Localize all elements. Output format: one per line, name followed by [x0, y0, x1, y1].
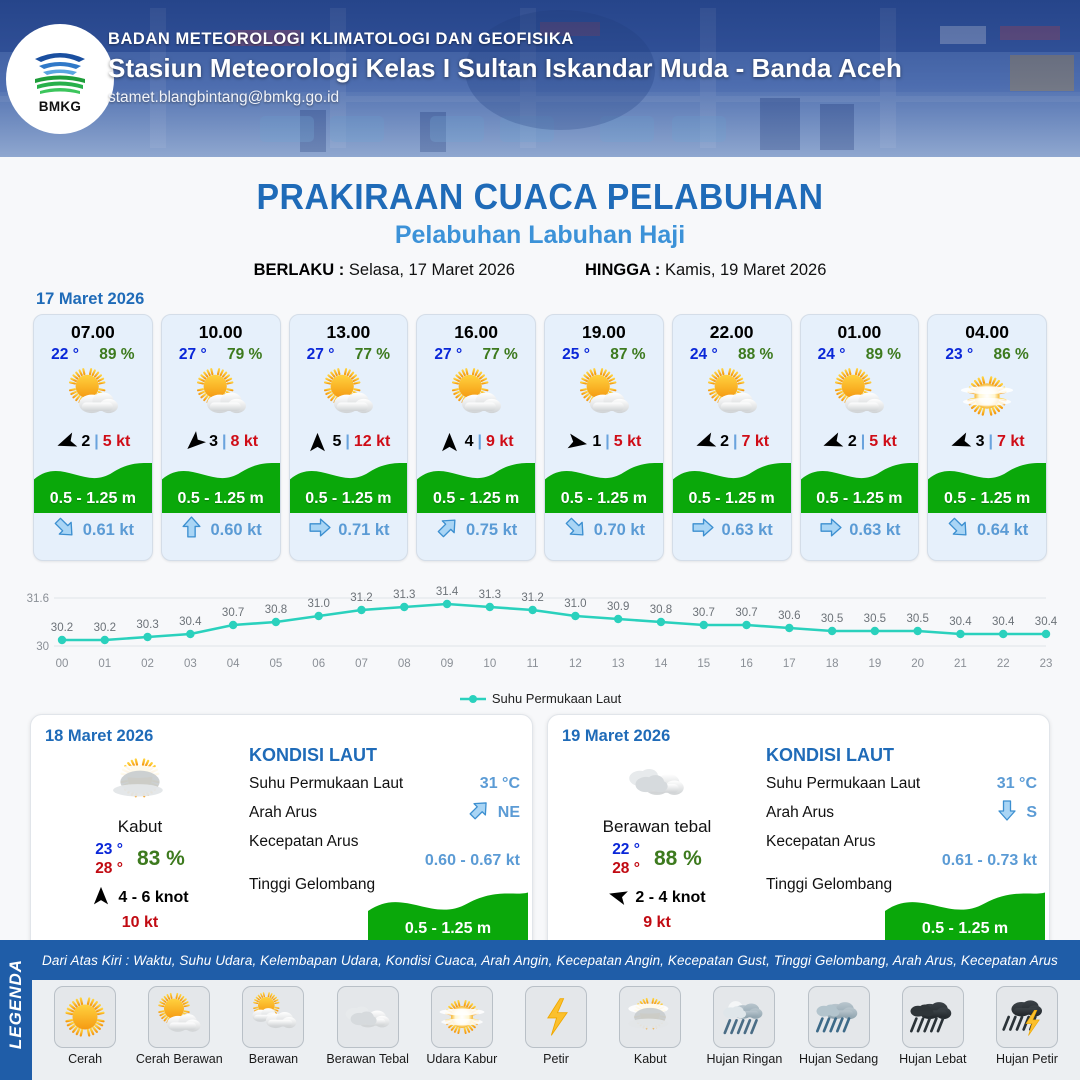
- svg-text:12: 12: [569, 658, 582, 670]
- svg-text:31.2: 31.2: [521, 592, 543, 604]
- wind-direction-icon: [91, 886, 111, 911]
- legend-item-label: Hujan Ringan: [707, 1052, 783, 1066]
- panel-temp-hum: 23 ° 28 ° 83 %: [45, 840, 235, 879]
- card-wave: 0.5 - 1.25 m: [417, 455, 535, 513]
- current-direction-icon: [818, 515, 843, 545]
- card-current-row: 0.64 kt: [928, 513, 1046, 547]
- hujan-ringan-icon: [713, 986, 775, 1048]
- legend-item-label: Hujan Sedang: [799, 1052, 878, 1066]
- cerah-berawan-icon: [162, 365, 280, 427]
- current-direction-value: NE: [498, 804, 520, 822]
- cerah-berawan-icon: [34, 365, 152, 427]
- wind-separator: |: [94, 433, 98, 451]
- wind-separator: |: [733, 433, 737, 451]
- hourly-card[interactable]: 19.00 25 ° 87 % 1 | 5 kt 0.5 - 1: [544, 314, 664, 561]
- legend-side-band: LEGENDA: [0, 940, 32, 1080]
- card-temperature: 24 °: [690, 346, 718, 364]
- legend-item-label: Kabut: [634, 1052, 667, 1066]
- legend-item-label: Cerah Berawan: [136, 1052, 223, 1066]
- svg-text:30.5: 30.5: [906, 613, 928, 625]
- wave-height: 0.5 - 1.25 m: [801, 490, 919, 508]
- svg-text:30.8: 30.8: [265, 604, 287, 616]
- card-temp-humidity: 25 ° 87 %: [545, 343, 663, 364]
- legend-item: Kabut: [605, 986, 695, 1080]
- legend-item-label: Udara Kabur: [426, 1052, 497, 1066]
- wind-direction-icon: [694, 431, 716, 453]
- current-direction-value-wrap: S: [995, 798, 1037, 827]
- valid-from-label: BERLAKU :: [254, 261, 345, 279]
- card-wave: 0.5 - 1.25 m: [545, 455, 663, 513]
- legend-item: Cerah: [40, 986, 130, 1080]
- svg-text:30.4: 30.4: [1035, 616, 1058, 628]
- svg-text:31.0: 31.0: [308, 598, 330, 610]
- station-email: stamet.blangbintang@bmkg.go.id: [108, 89, 902, 107]
- sea-condition-heading: KONDISI LAUT: [249, 745, 520, 766]
- hourly-card[interactable]: 04.00 23 ° 86 % 3 | 7 kt 0.5 - 1.25 m: [927, 314, 1047, 561]
- legend-item-label: Cerah: [68, 1052, 102, 1066]
- hujan-petir-icon: [996, 986, 1058, 1048]
- berawan-icon: [242, 986, 304, 1048]
- current-direction-icon: [995, 798, 1019, 827]
- card-humidity: 79 %: [227, 346, 262, 364]
- wind-direction-icon: [566, 431, 588, 453]
- card-time: 22.00: [673, 315, 791, 343]
- svg-text:30.8: 30.8: [650, 604, 672, 616]
- svg-text:30.6: 30.6: [778, 610, 800, 622]
- card-wave: 0.5 - 1.25 m: [928, 455, 1046, 513]
- card-wave: 0.5 - 1.25 m: [801, 455, 919, 513]
- valid-from: BERLAKU : Selasa, 17 Maret 2026: [254, 261, 515, 280]
- svg-text:30.4: 30.4: [949, 616, 972, 628]
- header-text-block: BADAN METEOROLOGI KLIMATOLOGI DAN GEOFIS…: [108, 30, 902, 107]
- svg-text:15: 15: [697, 658, 710, 670]
- current-speed-label: Kecepatan Arus: [766, 833, 875, 851]
- hourly-card[interactable]: 16.00 27 ° 77 % 4 | 9 kt 0.5 - 1: [416, 314, 536, 561]
- panel-humidity: 83 %: [137, 847, 185, 871]
- card-temp-humidity: 24 ° 89 %: [801, 343, 919, 364]
- card-humidity: 77 %: [482, 346, 517, 364]
- wind-direction-icon: [608, 886, 628, 911]
- panel-condition: Kabut: [45, 817, 235, 837]
- legend-item-label: Berawan Tebal: [326, 1052, 408, 1066]
- wind-speed: 8 kt: [231, 433, 259, 451]
- current-direction-icon: [563, 515, 588, 545]
- wind-direction-value: 2: [720, 433, 729, 451]
- panel-date: 19 Maret 2026: [562, 727, 1035, 746]
- svg-text:05: 05: [270, 658, 283, 670]
- legend-note-bar: Dari Atas Kiri : Waktu, Suhu Udara, Kele…: [32, 940, 1080, 980]
- cerah-berawan-icon: [545, 365, 663, 427]
- current-speed: 0.63 kt: [849, 521, 900, 540]
- panel-left: Berawan tebal 22 ° 28 ° 88 % 2 - 4 knot …: [562, 751, 752, 932]
- current-direction-icon: [307, 515, 332, 545]
- panel-wave-block: 0.5 - 1.25 m: [368, 885, 528, 947]
- sea-condition-heading: KONDISI LAUT: [766, 745, 1037, 766]
- svg-text:30.7: 30.7: [735, 607, 757, 619]
- hourly-date: 17 Maret 2026: [36, 290, 1080, 309]
- daily-panel[interactable]: 19 Maret 2026 Berawan tebal 22 °: [547, 714, 1050, 954]
- validity-row: BERLAKU : Selasa, 17 Maret 2026 HINGGA :…: [0, 261, 1080, 280]
- daily-panel[interactable]: 18 Maret 2026 Kabut 23 ° 28 ° 83 %: [30, 714, 533, 954]
- svg-text:30.2: 30.2: [94, 622, 116, 634]
- card-humidity: 86 %: [993, 346, 1028, 364]
- card-wave: 0.5 - 1.25 m: [673, 455, 791, 513]
- svg-text:31.4: 31.4: [436, 586, 459, 598]
- panel-temp-max: 28 °: [95, 859, 123, 878]
- panel-gust: 10 kt: [45, 914, 235, 932]
- svg-text:31.6: 31.6: [27, 593, 49, 605]
- card-current-row: 0.75 kt: [417, 513, 535, 547]
- wind-direction-value: 5: [332, 433, 341, 451]
- station-name: Stasiun Meteorologi Kelas I Sultan Iskan…: [108, 53, 902, 84]
- berawan-tebal-icon: [337, 986, 399, 1048]
- cerah-berawan-icon: [290, 365, 408, 427]
- wind-direction-value: 2: [81, 433, 90, 451]
- card-temp-humidity: 22 ° 89 %: [34, 343, 152, 364]
- wave-label: Tinggi Gelombang: [249, 876, 375, 894]
- svg-text:31.0: 31.0: [564, 598, 586, 610]
- wind-direction-value: 1: [592, 433, 601, 451]
- svg-text:21: 21: [954, 658, 967, 670]
- svg-text:14: 14: [655, 658, 668, 670]
- svg-text:04: 04: [227, 658, 240, 670]
- card-wind-row: 1 | 5 kt: [545, 427, 663, 457]
- svg-text:17: 17: [783, 658, 796, 670]
- panel-condition: Berawan tebal: [562, 817, 752, 837]
- panel-gust: 9 kt: [562, 914, 752, 932]
- chart-legend-label: Suhu Permukaan Laut: [492, 691, 621, 706]
- kabut-icon: [45, 751, 235, 813]
- panel-wave-block: 0.5 - 1.25 m: [885, 885, 1045, 947]
- card-wind-row: 2 | 7 kt: [673, 427, 791, 457]
- card-temperature: 23 °: [945, 346, 973, 364]
- panel-temps: 22 ° 28 °: [612, 840, 640, 879]
- wind-speed: 5 kt: [614, 433, 642, 451]
- svg-text:30.7: 30.7: [222, 607, 244, 619]
- wind-direction-icon: [183, 431, 205, 453]
- card-temperature: 27 °: [179, 346, 207, 364]
- udara-kabur-icon: [928, 365, 1046, 427]
- current-direction-value: S: [1026, 804, 1037, 822]
- card-temp-humidity: 27 ° 77 %: [290, 343, 408, 364]
- wind-direction-value: 3: [976, 433, 985, 451]
- card-current-row: 0.63 kt: [673, 513, 791, 547]
- card-time: 13.00: [290, 315, 408, 343]
- current-direction-icon: [467, 798, 491, 827]
- current-direction-icon: [52, 515, 77, 545]
- wind-separator: |: [345, 433, 349, 451]
- card-current-row: 0.60 kt: [162, 513, 280, 547]
- panel-wind-range: 2 - 4 knot: [635, 889, 705, 907]
- hourly-card[interactable]: 01.00 24 ° 89 % 2 | 5 kt 0.5 - 1: [800, 314, 920, 561]
- current-speed-label: Kecepatan Arus: [249, 833, 358, 851]
- svg-text:13: 13: [612, 658, 625, 670]
- current-speed: 0.61 kt: [83, 521, 134, 540]
- card-time: 07.00: [34, 315, 152, 343]
- panel-temp-max: 28 °: [612, 859, 640, 878]
- panel-wind: 2 - 4 knot: [562, 886, 752, 911]
- sst-value: 31 °C: [480, 775, 520, 793]
- svg-text:31.3: 31.3: [393, 589, 415, 601]
- current-direction-label: Arah Arus: [766, 804, 834, 822]
- wave-height: 0.5 - 1.25 m: [417, 490, 535, 508]
- panel-wave-height: 0.5 - 1.25 m: [368, 920, 528, 938]
- legend-item-label: Petir: [543, 1052, 569, 1066]
- hujan-lebat-icon: [902, 986, 964, 1048]
- legend-item: Hujan Ringan: [699, 986, 789, 1080]
- svg-text:20: 20: [911, 658, 924, 670]
- svg-text:10: 10: [483, 658, 496, 670]
- hourly-card[interactable]: 07.00 22 ° 89 % 2 | 5 kt 0.5 - 1: [33, 314, 153, 561]
- berawan-tebal-icon: [562, 751, 752, 813]
- current-direction-icon: [690, 515, 715, 545]
- legend-item-label: Berawan: [249, 1052, 298, 1066]
- card-wind-row: 3 | 8 kt: [162, 427, 280, 457]
- bmkg-logo-text: BMKG: [39, 99, 81, 114]
- panel-temps: 23 ° 28 °: [95, 840, 123, 879]
- wind-direction-value: 2: [848, 433, 857, 451]
- svg-text:01: 01: [98, 658, 111, 670]
- card-temperature: 25 °: [562, 346, 590, 364]
- legend-item-label: Hujan Lebat: [899, 1052, 966, 1066]
- panel-wind: 4 - 6 knot: [45, 886, 235, 911]
- card-wave: 0.5 - 1.25 m: [34, 455, 152, 513]
- cerah-icon: [54, 986, 116, 1048]
- wind-separator: |: [989, 433, 993, 451]
- svg-text:30.2: 30.2: [51, 622, 73, 634]
- svg-text:03: 03: [184, 658, 197, 670]
- page-title: PRAKIRAAN CUACA PELABUHAN: [32, 176, 1047, 218]
- wind-direction-value: 4: [465, 433, 474, 451]
- sst-label: Suhu Permukaan Laut: [766, 775, 920, 793]
- svg-text:30.4: 30.4: [179, 616, 202, 628]
- card-current-row: 0.63 kt: [801, 513, 919, 547]
- card-humidity: 89 %: [99, 346, 134, 364]
- card-wind-row: 2 | 5 kt: [34, 427, 152, 457]
- hourly-card[interactable]: 22.00 24 ° 88 % 2 | 7 kt 0.5 - 1: [672, 314, 792, 561]
- wind-direction-icon: [306, 431, 328, 453]
- svg-text:31.3: 31.3: [479, 589, 501, 601]
- svg-text:16: 16: [740, 658, 753, 670]
- petir-icon: [525, 986, 587, 1048]
- wave-height: 0.5 - 1.25 m: [34, 490, 152, 508]
- legend-item: Petir: [511, 986, 601, 1080]
- svg-text:30.7: 30.7: [693, 607, 715, 619]
- svg-text:18: 18: [826, 658, 839, 670]
- current-direction-row: Arah Arus NE: [249, 798, 520, 827]
- current-direction-value-wrap: NE: [467, 798, 520, 827]
- card-current-row: 0.70 kt: [545, 513, 663, 547]
- svg-text:11: 11: [527, 658, 539, 670]
- svg-text:07: 07: [355, 658, 368, 670]
- svg-text:30.5: 30.5: [864, 613, 886, 625]
- wave-height: 0.5 - 1.25 m: [928, 490, 1046, 508]
- card-temperature: 24 °: [818, 346, 846, 364]
- card-wind-row: 4 | 9 kt: [417, 427, 535, 457]
- legend-note: Dari Atas Kiri : Waktu, Suhu Udara, Kele…: [32, 953, 1058, 968]
- daily-panels: 18 Maret 2026 Kabut 23 ° 28 ° 83 %: [0, 706, 1080, 954]
- svg-text:31.2: 31.2: [350, 592, 372, 604]
- sst-chart: 31.63030.20030.20130.30230.40330.70430.8…: [0, 572, 1080, 690]
- wind-separator: |: [605, 433, 609, 451]
- card-time: 01.00: [801, 315, 919, 343]
- svg-text:06: 06: [312, 658, 325, 670]
- svg-text:30.4: 30.4: [992, 616, 1015, 628]
- valid-from-value: Selasa, 17 Maret 2026: [349, 261, 515, 279]
- wave-label: Tinggi Gelombang: [766, 876, 892, 894]
- svg-text:30.3: 30.3: [136, 619, 158, 631]
- card-temperature: 27 °: [434, 346, 462, 364]
- panel-date: 18 Maret 2026: [45, 727, 518, 746]
- card-time: 19.00: [545, 315, 663, 343]
- cerah-berawan-icon: [673, 365, 791, 427]
- current-speed-value: 0.60 - 0.67 kt: [249, 852, 520, 870]
- svg-text:22: 22: [997, 658, 1010, 670]
- card-humidity: 77 %: [355, 346, 390, 364]
- valid-to: HINGGA : Kamis, 19 Maret 2026: [585, 261, 826, 280]
- page-header: BMKG BADAN METEOROLOGI KLIMATOLOGI DAN G…: [0, 0, 1080, 157]
- svg-text:02: 02: [141, 658, 154, 670]
- chart-legend-marker-icon: [459, 693, 487, 705]
- svg-text:09: 09: [441, 658, 454, 670]
- svg-text:00: 00: [56, 658, 69, 670]
- hujan-sedang-icon: [808, 986, 870, 1048]
- legend-item: Berawan: [228, 986, 318, 1080]
- card-time: 16.00: [417, 315, 535, 343]
- hourly-cards: 07.00 22 ° 89 % 2 | 5 kt 0.5 - 1: [0, 314, 1080, 561]
- cerah-berawan-icon: [417, 365, 535, 427]
- card-wind-row: 5 | 12 kt: [290, 427, 408, 457]
- wind-direction-icon: [822, 431, 844, 453]
- legend-item: Hujan Lebat: [888, 986, 978, 1080]
- wind-direction-icon: [55, 431, 77, 453]
- wind-speed: 7 kt: [742, 433, 770, 451]
- card-temp-humidity: 23 ° 86 %: [928, 343, 1046, 364]
- valid-to-label: HINGGA :: [585, 261, 660, 279]
- card-current-row: 0.61 kt: [34, 513, 152, 547]
- card-time: 10.00: [162, 315, 280, 343]
- wind-separator: |: [861, 433, 865, 451]
- card-temp-humidity: 27 ° 77 %: [417, 343, 535, 364]
- cerah-berawan-icon: [801, 365, 919, 427]
- sst-label: Suhu Permukaan Laut: [249, 775, 403, 793]
- legend-item: Hujan Petir: [982, 986, 1072, 1080]
- legend-icon-list: Cerah Cerah Berawan: [32, 980, 1080, 1080]
- panel-humidity: 88 %: [654, 847, 702, 871]
- wind-direction-icon: [439, 431, 461, 453]
- panel-temp-min: 22 °: [612, 840, 640, 859]
- card-humidity: 87 %: [610, 346, 645, 364]
- current-speed-value: 0.61 - 0.73 kt: [766, 852, 1037, 870]
- wind-separator: |: [222, 433, 226, 451]
- legend-item: Berawan Tebal: [323, 986, 413, 1080]
- cerah-berawan-icon: [148, 986, 210, 1048]
- current-speed: 0.70 kt: [594, 521, 645, 540]
- legend-item: Hujan Sedang: [794, 986, 884, 1080]
- page-subtitle: Pelabuhan Labuhan Haji: [0, 221, 1080, 250]
- panel-right: KONDISI LAUT Suhu Permukaan Laut 31 °C A…: [766, 745, 1037, 899]
- legend-item: Udara Kabur: [417, 986, 507, 1080]
- panel-temp-hum: 22 ° 28 ° 88 %: [562, 840, 752, 879]
- udara-kabur-icon: [431, 986, 493, 1048]
- sst-value: 31 °C: [997, 775, 1037, 793]
- card-temperature: 27 °: [307, 346, 335, 364]
- current-speed: 0.60 kt: [210, 521, 261, 540]
- wind-direction-icon: [950, 431, 972, 453]
- wind-speed: 7 kt: [997, 433, 1025, 451]
- hourly-card[interactable]: 10.00 27 ° 79 % 3 | 8 kt 0.5 - 1: [161, 314, 281, 561]
- card-time: 04.00: [928, 315, 1046, 343]
- current-speed: 0.63 kt: [721, 521, 772, 540]
- kabut-icon: [619, 986, 681, 1048]
- svg-text:30.9: 30.9: [607, 601, 629, 613]
- legend-item-label: Hujan Petir: [996, 1052, 1058, 1066]
- svg-text:30.5: 30.5: [821, 613, 843, 625]
- legend-footer: LEGENDA Dari Atas Kiri : Waktu, Suhu Uda…: [0, 940, 1080, 1080]
- current-direction-icon: [179, 515, 204, 545]
- agency-name: BADAN METEOROLOGI KLIMATOLOGI DAN GEOFIS…: [108, 30, 902, 49]
- panel-wind-range: 4 - 6 knot: [118, 889, 188, 907]
- card-humidity: 89 %: [866, 346, 901, 364]
- valid-to-value: Kamis, 19 Maret 2026: [665, 261, 826, 279]
- panel-left: Kabut 23 ° 28 ° 83 % 4 - 6 knot 10 kt: [45, 751, 235, 932]
- wave-height: 0.5 - 1.25 m: [290, 490, 408, 508]
- wave-height: 0.5 - 1.25 m: [545, 490, 663, 508]
- card-humidity: 88 %: [738, 346, 773, 364]
- card-temp-humidity: 24 ° 88 %: [673, 343, 791, 364]
- current-direction-label: Arah Arus: [249, 804, 317, 822]
- card-temp-humidity: 27 ° 79 %: [162, 343, 280, 364]
- svg-text:30: 30: [36, 641, 49, 653]
- svg-text:19: 19: [868, 658, 881, 670]
- card-current-row: 0.71 kt: [290, 513, 408, 547]
- wave-height: 0.5 - 1.25 m: [162, 490, 280, 508]
- chart-legend: Suhu Permukaan Laut: [0, 691, 1080, 706]
- card-wind-row: 2 | 5 kt: [801, 427, 919, 457]
- wind-speed: 5 kt: [869, 433, 897, 451]
- wind-speed: 12 kt: [354, 433, 390, 451]
- legend-side-label: LEGENDA: [6, 944, 26, 1064]
- current-speed: 0.64 kt: [977, 521, 1028, 540]
- panel-wave-height: 0.5 - 1.25 m: [885, 920, 1045, 938]
- wave-height: 0.5 - 1.25 m: [673, 490, 791, 508]
- current-direction-icon: [435, 515, 460, 545]
- wind-speed: 5 kt: [103, 433, 131, 451]
- current-speed: 0.75 kt: [466, 521, 517, 540]
- card-wave: 0.5 - 1.25 m: [290, 455, 408, 513]
- bmkg-logo: BMKG: [6, 24, 114, 134]
- legend-item: Cerah Berawan: [134, 986, 224, 1080]
- hourly-card[interactable]: 13.00 27 ° 77 % 5 | 12 kt 0.5 -: [289, 314, 409, 561]
- current-direction-icon: [946, 515, 971, 545]
- current-direction-row: Arah Arus S: [766, 798, 1037, 827]
- card-wind-row: 3 | 7 kt: [928, 427, 1046, 457]
- current-speed: 0.71 kt: [338, 521, 389, 540]
- card-temperature: 22 °: [51, 346, 79, 364]
- wind-speed: 9 kt: [486, 433, 514, 451]
- panel-temp-min: 23 °: [95, 840, 123, 859]
- svg-text:08: 08: [398, 658, 411, 670]
- sst-chart-svg: 31.63030.20030.20130.30230.40330.70430.8…: [0, 572, 1080, 690]
- bmkg-logo-icon: [29, 45, 91, 97]
- wind-direction-value: 3: [209, 433, 218, 451]
- svg-text:23: 23: [1040, 658, 1053, 670]
- panel-right: KONDISI LAUT Suhu Permukaan Laut 31 °C A…: [249, 745, 520, 899]
- card-wave: 0.5 - 1.25 m: [162, 455, 280, 513]
- sst-row: Suhu Permukaan Laut 31 °C: [766, 769, 1037, 798]
- wind-separator: |: [478, 433, 482, 451]
